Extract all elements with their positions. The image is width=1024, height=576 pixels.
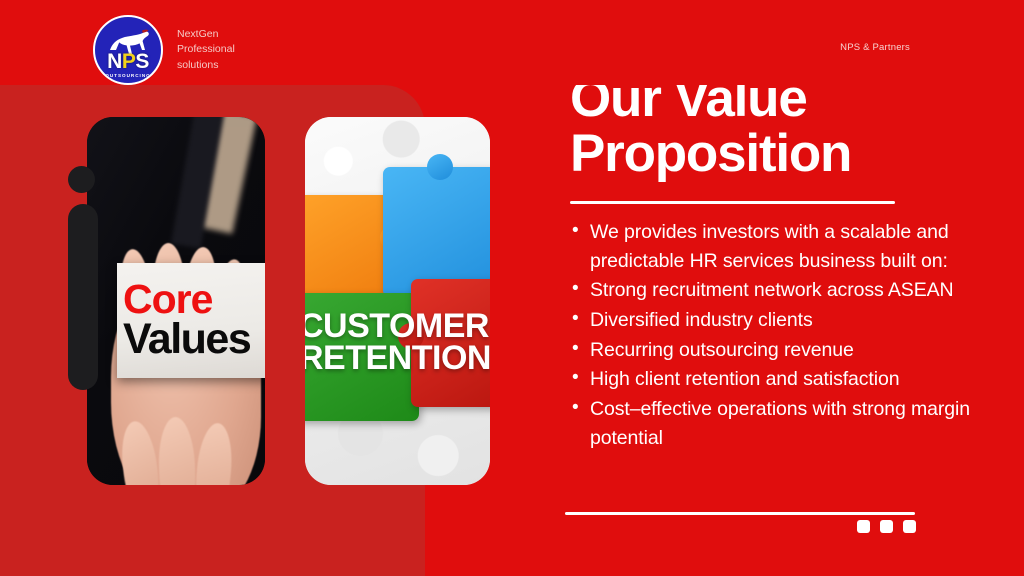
puzzle-piece-blue: [383, 167, 490, 297]
title-divider: [570, 201, 895, 204]
brand-lockup: NPS OUTSOURCING NextGen Professional sol…: [93, 15, 267, 85]
list-item: High client retention and satisfaction: [570, 365, 990, 394]
slide: NPS OUTSOURCING NextGen Professional sol…: [0, 0, 1024, 576]
footer-divider: [565, 512, 915, 515]
nps-logo-icon: NPS OUTSOURCING: [93, 15, 163, 85]
footer-dots-decoration: [857, 520, 916, 533]
letter-i-dot-decoration: [68, 166, 95, 193]
main-content: Our Value Proposition We provides invest…: [570, 72, 990, 453]
list-item: Diversified industry clients: [570, 306, 990, 335]
logo-letter-n: N: [107, 50, 122, 73]
logo-letter-s: S: [135, 50, 149, 73]
logo-initials: NPS: [107, 51, 149, 72]
customer-retention-line2: RETENTION: [305, 339, 490, 378]
core-values-sign: Core Values: [117, 263, 265, 378]
puzzle-piece-orange: [305, 195, 393, 293]
brand-name: NextGen Professional solutions: [177, 27, 267, 73]
core-values-line1: Core: [123, 281, 265, 319]
core-values-line2: Values: [123, 319, 265, 360]
logo-letter-p: P: [122, 50, 136, 73]
footer-dot: [857, 520, 870, 533]
list-item: Recurring outsourcing revenue: [570, 336, 990, 365]
letter-i-stem-decoration: [68, 204, 98, 390]
corner-label: NPS & Partners: [840, 42, 910, 53]
list-item: We provides investors with a scalable an…: [570, 218, 990, 275]
list-item: Strong recruitment network across ASEAN: [570, 276, 990, 305]
value-proposition-list: We provides investors with a scalable an…: [570, 218, 990, 452]
page-title: Our Value Proposition: [570, 72, 990, 181]
image-card-customer-retention: CUSTOMER RETENTION: [305, 117, 490, 485]
image-card-core-values: Core Values: [87, 117, 265, 485]
footer-dot: [880, 520, 893, 533]
footer-dot: [903, 520, 916, 533]
slide-header: NPS OUTSOURCING NextGen Professional sol…: [0, 0, 1024, 85]
logo-subtitle: OUTSOURCING: [105, 73, 150, 78]
list-item: Cost–effective operations with strong ma…: [570, 395, 990, 452]
